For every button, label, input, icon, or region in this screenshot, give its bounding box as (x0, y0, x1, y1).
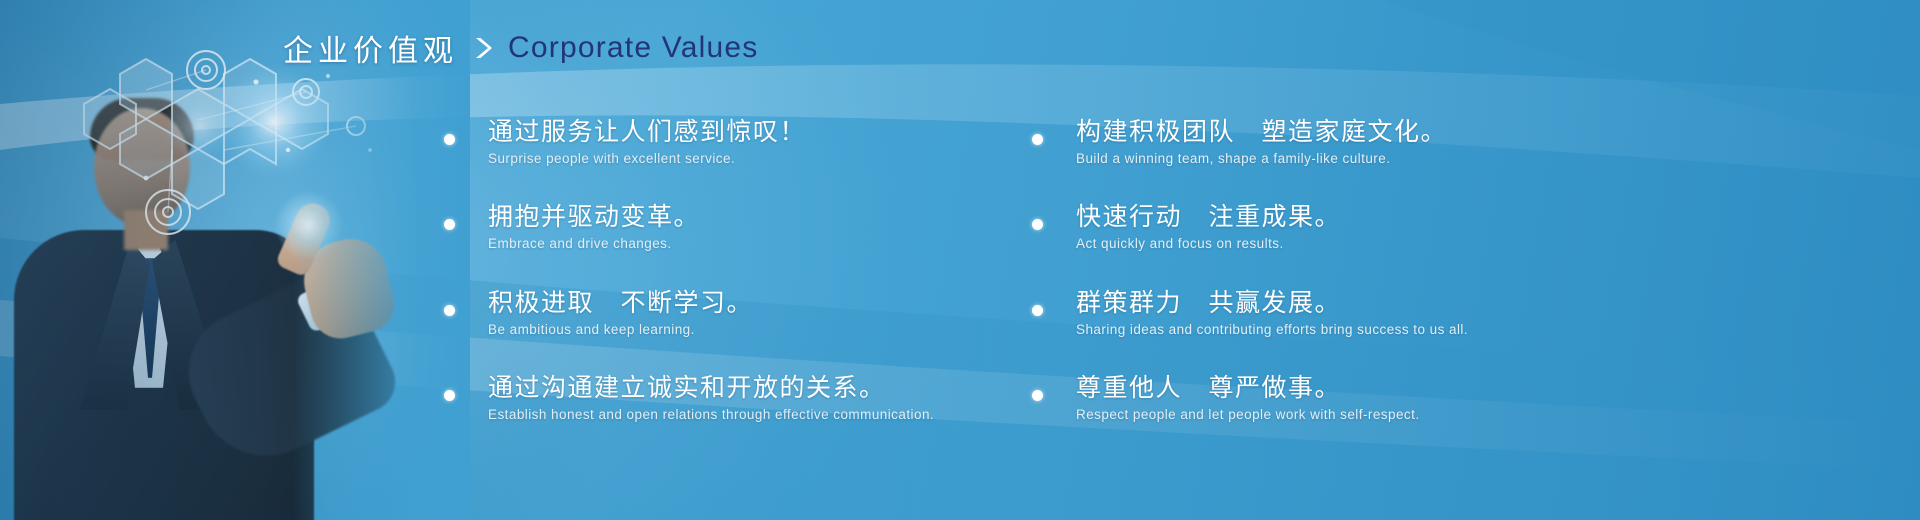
value-item: 群策群力 共赢发展。 Sharing ideas and contributin… (1028, 289, 1588, 340)
bullet-dot-icon (1032, 390, 1043, 401)
value-item: 通过沟通建立诚实和开放的关系。 Establish honest and ope… (440, 374, 1060, 425)
value-text-en: Surprise people with excellent service. (488, 149, 1060, 169)
value-text-cn: 尊重他人 尊严做事。 (1076, 374, 1588, 403)
value-text-cn: 通过沟通建立诚实和开放的关系。 (488, 374, 1060, 403)
banner-header: 企业价值观 Corporate Values (283, 26, 758, 70)
value-item: 通过服务让人们感到惊叹！ Surprise people with excell… (440, 118, 1060, 169)
bullet-dot-icon (1032, 134, 1043, 145)
value-item: 尊重他人 尊严做事。 Respect people and let people… (1028, 374, 1588, 425)
values-column-right: 构建积极团队 塑造家庭文化。 Build a winning team, sha… (1028, 118, 1588, 459)
value-text-cn: 构建积极团队 塑造家庭文化。 (1076, 118, 1588, 147)
chevron-right-icon (472, 35, 494, 61)
value-text-cn: 群策群力 共赢发展。 (1076, 289, 1588, 318)
value-text-en: Embrace and drive changes. (488, 234, 1060, 254)
bullet-dot-icon (444, 134, 455, 145)
page-title-cn: 企业价值观 (283, 26, 458, 70)
bullet-dot-icon (1032, 305, 1043, 316)
value-text-en: Act quickly and focus on results. (1076, 234, 1588, 254)
bullet-dot-icon (444, 219, 455, 230)
value-text-cn: 拥抱并驱动变革。 (488, 203, 1060, 232)
bullet-dot-icon (1032, 219, 1043, 230)
value-item: 积极进取 不断学习。 Be ambitious and keep learnin… (440, 289, 1060, 340)
value-item: 构建积极团队 塑造家庭文化。 Build a winning team, sha… (1028, 118, 1588, 169)
bullet-dot-icon (444, 305, 455, 316)
value-text-en: Establish honest and open relations thro… (488, 405, 1060, 425)
value-text-cn: 积极进取 不断学习。 (488, 289, 1060, 318)
value-text-en: Respect people and let people work with … (1076, 405, 1588, 425)
value-text-cn: 快速行动 注重成果。 (1076, 203, 1588, 232)
value-text-en: Be ambitious and keep learning. (488, 320, 1060, 340)
values-column-left: 通过服务让人们感到惊叹！ Surprise people with excell… (440, 118, 1060, 459)
value-item: 拥抱并驱动变革。 Embrace and drive changes. (440, 203, 1060, 254)
value-text-en: Build a winning team, shape a family-lik… (1076, 149, 1588, 169)
value-item: 快速行动 注重成果。 Act quickly and focus on resu… (1028, 203, 1588, 254)
value-text-en: Sharing ideas and contributing efforts b… (1076, 320, 1588, 340)
corporate-values-banner: 企业价值观 Corporate Values 通过服务让人们感到惊叹！ Surp… (0, 0, 1920, 520)
bullet-dot-icon (444, 390, 455, 401)
values-columns: 通过服务让人们感到惊叹！ Surprise people with excell… (0, 118, 1920, 418)
page-title-en: Corporate Values (508, 31, 758, 65)
value-text-cn: 通过服务让人们感到惊叹！ (488, 118, 1060, 147)
